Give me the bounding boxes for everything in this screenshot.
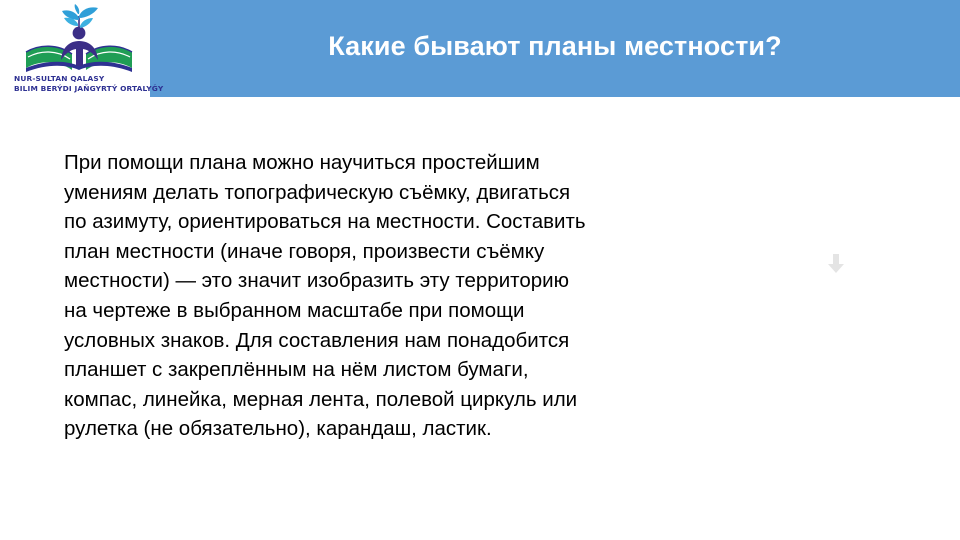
logo-caption-line-1: NUR-SULTAN QALASY [14,74,154,84]
body-line: план местности (иначе говоря, произвести… [64,237,744,267]
organization-logo: NUR-SULTAN QALASY BILIM BERÝDI JAŇGYRTÝ … [6,4,152,96]
body-line: При помощи плана можно научиться простей… [64,148,744,178]
logo-caption-line-2: BILIM BERÝDI JAŇGYRTÝ ORTALYǴY [14,84,154,94]
body-line: планшет с закреплённым на нём листом бум… [64,355,744,385]
slide-root: Какие бывают планы местности? [0,0,960,540]
body-line: местности) — это значит изобразить эту т… [64,266,744,296]
body-line: рулетка (не обязательно), карандаш, ласт… [64,414,744,444]
logo-caption: NUR-SULTAN QALASY BILIM BERÝDI JAŇGYRTÝ … [14,74,154,93]
body-line: по азимуту, ориентироваться на местности… [64,207,744,237]
body-line: условных знаков. Для составления нам пон… [64,326,744,356]
body-line: компас, линейка, мерная лента, полевой ц… [64,385,744,415]
arrow-down-icon [827,254,845,274]
body-text: При помощи плана можно научиться простей… [64,148,744,444]
page-title: Какие бывают планы местности? [150,0,960,97]
body-line: умениям делать топографическую съёмку, д… [64,178,744,208]
body-line: на чертеже в выбранном масштабе при помо… [64,296,744,326]
logo-emblem-icon [6,4,152,76]
